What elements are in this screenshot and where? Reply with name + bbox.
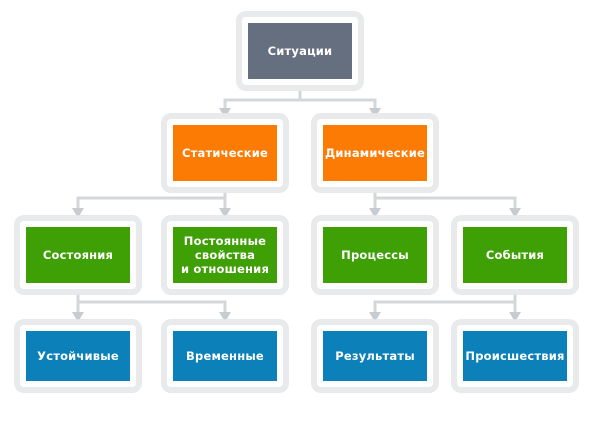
node-dynamic[interactable]: Динамические: [312, 114, 438, 192]
node-incidents-fill: Происшествия: [463, 331, 567, 381]
node-temporary[interactable]: Временные: [162, 320, 288, 392]
node-stable-fill: Устойчивые: [26, 331, 130, 381]
node-states[interactable]: Состояния: [15, 216, 141, 294]
node-dynamic-label: Динамические: [321, 146, 429, 160]
node-temporary-fill: Временные: [173, 331, 277, 381]
node-states-label: Состояния: [39, 248, 117, 262]
node-processes-fill: Процессы: [323, 227, 427, 283]
node-results-fill: Результаты: [323, 331, 427, 381]
node-static-label: Статические: [178, 146, 272, 160]
node-events[interactable]: События: [452, 216, 578, 294]
node-stable[interactable]: Устойчивые: [15, 320, 141, 392]
node-static-fill: Статические: [173, 125, 277, 181]
node-situations-fill: Ситуации: [248, 23, 352, 79]
node-events-fill: События: [463, 227, 567, 283]
node-permanent-properties-label: Постоянные свойства и отношения: [177, 234, 273, 276]
node-results-label: Результаты: [331, 349, 419, 363]
node-processes-label: Процессы: [337, 248, 413, 262]
node-situations-label: Ситуации: [264, 44, 337, 58]
node-temporary-label: Временные: [182, 349, 268, 363]
node-permanent-properties-fill: Постоянные свойства и отношения: [173, 227, 277, 283]
node-permanent-properties[interactable]: Постоянные свойства и отношения: [162, 216, 288, 294]
node-incidents[interactable]: Происшествия: [452, 320, 578, 392]
node-events-label: События: [482, 248, 548, 262]
node-situations[interactable]: Ситуации: [237, 12, 363, 90]
node-processes[interactable]: Процессы: [312, 216, 438, 294]
node-results[interactable]: Результаты: [312, 320, 438, 392]
node-incidents-label: Происшествия: [461, 349, 568, 363]
node-static[interactable]: Статические: [162, 114, 288, 192]
diagram-canvas: Ситуации Статические Динамические Состоя…: [0, 0, 600, 424]
node-states-fill: Состояния: [26, 227, 130, 283]
node-stable-label: Устойчивые: [33, 349, 123, 363]
node-dynamic-fill: Динамические: [323, 125, 427, 181]
